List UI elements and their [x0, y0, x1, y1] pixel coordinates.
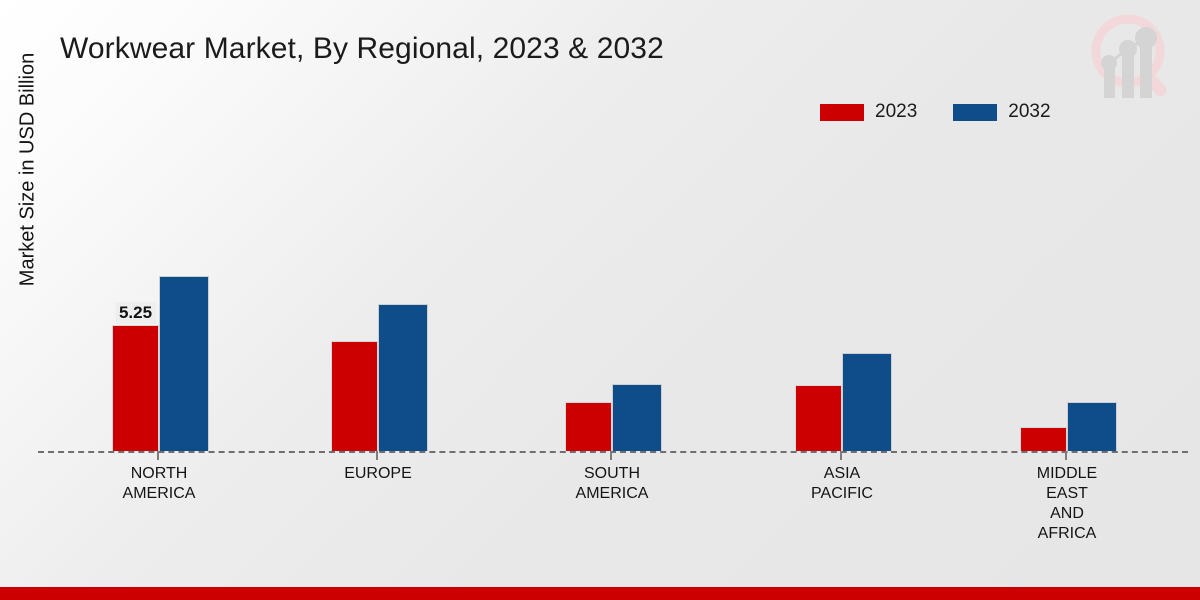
legend-label-2023: 2023: [875, 101, 917, 123]
x-axis-baseline: [38, 451, 1188, 453]
bar-2032-north-america[interactable]: [159, 276, 209, 451]
bar-value-label-north-america-2023: 5.25: [115, 302, 156, 324]
bars-south-america: [565, 140, 662, 451]
legend-item-2032[interactable]: 2032: [953, 101, 1050, 123]
y-axis-title: Market Size in USD Billion: [17, 0, 40, 340]
bar-2023-asia-pacific[interactable]: [795, 385, 842, 451]
x-label-line: MIDDLE: [1037, 465, 1097, 482]
bars-middle-east-and-africa: [1020, 140, 1117, 451]
x-label-europe: EUROPE: [293, 464, 463, 484]
bar-2032-europe[interactable]: [378, 304, 428, 451]
bar-2023-middle-east-and-africa[interactable]: [1020, 427, 1067, 451]
x-tick-europe: [376, 451, 378, 460]
x-label-south-america: SOUTH AMERICA: [527, 464, 697, 504]
watermark-logo: [1078, 6, 1182, 106]
bar-2023-europe[interactable]: [331, 341, 378, 451]
legend-label-2032: 2032: [1008, 101, 1050, 123]
legend-item-2023[interactable]: 2023: [820, 101, 917, 123]
x-tick-south-america: [610, 451, 612, 460]
x-tick-north-america: [157, 451, 159, 460]
x-tick-asia-pacific: [840, 451, 842, 460]
x-label-line: AMERICA: [123, 485, 196, 502]
chart-container: Workwear Market, By Regional, 2023 & 203…: [0, 0, 1200, 600]
bars-europe: [331, 140, 428, 451]
bars-asia-pacific: [795, 140, 892, 451]
x-label-line: PACIFIC: [811, 485, 873, 502]
x-label-line: AND: [1050, 505, 1084, 522]
chart-title: Workwear Market, By Regional, 2023 & 203…: [60, 32, 664, 66]
x-label-line: ASIA: [824, 465, 860, 482]
magnifier-chart-icon: [1078, 6, 1182, 106]
x-label-line: EUROPE: [344, 465, 412, 482]
bar-2032-middle-east-and-africa[interactable]: [1067, 402, 1117, 451]
bar-2032-south-america[interactable]: [612, 384, 662, 451]
legend-swatch-2023: [820, 104, 864, 121]
x-label-north-america: NORTH AMERICA: [74, 464, 244, 504]
plot-area: 5.25 NORTH AMERICA EUROPE: [38, 140, 1188, 452]
x-tick-middle-east-and-africa: [1065, 451, 1067, 460]
x-label-line: NORTH: [131, 465, 188, 482]
x-label-asia-pacific: ASIA PACIFIC: [757, 464, 927, 504]
bar-2023-north-america[interactable]: 5.25: [112, 325, 159, 451]
bars-north-america: 5.25: [112, 140, 209, 451]
x-label-line: EAST: [1046, 485, 1088, 502]
x-label-middle-east-and-africa: MIDDLE EAST AND AFRICA: [982, 464, 1152, 544]
bar-2023-south-america[interactable]: [565, 402, 612, 451]
bar-2032-asia-pacific[interactable]: [842, 353, 892, 451]
chart-legend: 2023 2032: [820, 101, 1051, 123]
legend-swatch-2032: [953, 104, 997, 121]
x-label-line: AFRICA: [1038, 525, 1097, 542]
x-label-line: AMERICA: [576, 485, 649, 502]
x-label-line: SOUTH: [584, 465, 640, 482]
footer-accent-bar: [0, 587, 1200, 600]
